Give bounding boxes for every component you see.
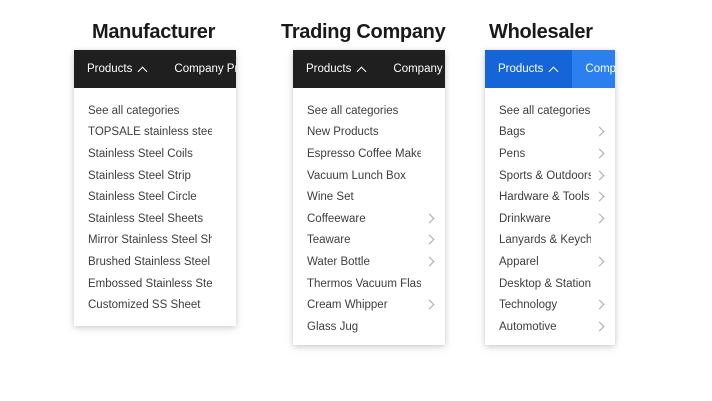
menu-item[interactable]: Vacuum Lunch Box: [293, 165, 445, 187]
menu-item-label: Water Bottle: [307, 256, 370, 268]
menu-item[interactable]: See all categories: [293, 100, 445, 122]
menu-item[interactable]: Sports & Outdoors: [485, 165, 615, 187]
chevron-right-icon: [427, 236, 435, 244]
menu-item-label: Lanyards & Keychains: [499, 234, 591, 246]
panel-header-manufacturer: Products Company Profile: [74, 50, 236, 88]
chevron-right-icon: [597, 172, 605, 180]
menu-item[interactable]: Stainless Steel Coils: [74, 143, 236, 165]
menu-item[interactable]: Stainless Steel Circle: [74, 186, 236, 208]
chevron-right-icon: [597, 107, 605, 115]
menu-item[interactable]: Embossed Stainless Steel ...: [74, 273, 236, 295]
category-menu-wholesaler: See all categories Bags Pens Sports & Ou…: [485, 88, 615, 345]
chevron-right-icon: [218, 236, 226, 244]
menu-item[interactable]: Coffeeware: [293, 208, 445, 230]
chevron-right-icon: [597, 301, 605, 309]
tab-company[interactable]: Compan: [572, 50, 615, 88]
chevron-right-icon: [218, 107, 226, 115]
tab-company-label: Company: [393, 63, 442, 75]
chevron-right-icon: [427, 128, 435, 136]
chevron-up-icon: [139, 66, 148, 75]
chevron-right-icon: [427, 107, 435, 115]
chevron-right-icon: [218, 215, 226, 223]
tab-company-profile-label: Company Profile: [174, 63, 236, 75]
menu-item-label: See all categories: [307, 105, 398, 117]
menu-item-label: New Products: [307, 126, 379, 138]
menu-item-label: Thermos Vacuum Flask: [307, 278, 421, 290]
menu-item[interactable]: Thermos Vacuum Flask: [293, 273, 445, 295]
chevron-right-icon: [427, 172, 435, 180]
menu-item[interactable]: Automotive: [485, 316, 615, 338]
chevron-right-icon: [427, 193, 435, 201]
menu-item-label: See all categories: [88, 105, 179, 117]
chevron-right-icon: [597, 128, 605, 136]
chevron-up-icon: [550, 66, 559, 75]
menu-item-label: Technology: [499, 299, 557, 311]
chevron-right-icon: [597, 215, 605, 223]
menu-item-label: Embossed Stainless Steel ...: [88, 278, 212, 290]
menu-item[interactable]: Mirror Stainless Steel Sheet: [74, 230, 236, 252]
menu-item[interactable]: Glass Jug: [293, 316, 445, 338]
menu-item-label: Hardware & Tools: [499, 191, 590, 203]
menu-item-label: Apparel: [499, 256, 539, 268]
menu-item-label: Stainless Steel Strip: [88, 170, 191, 182]
chevron-right-icon: [218, 128, 226, 136]
chevron-right-icon: [427, 150, 435, 158]
menu-item-label: Wine Set: [307, 191, 354, 203]
menu-item[interactable]: Stainless Steel Strip: [74, 165, 236, 187]
menu-item[interactable]: Espresso Coffee Maker: [293, 143, 445, 165]
chevron-right-icon: [597, 193, 605, 201]
dropdown-panel-manufacturer: Products Company Profile See all categor…: [74, 50, 236, 326]
chevron-right-icon: [597, 280, 605, 288]
chevron-right-icon: [427, 301, 435, 309]
menu-item-label: Stainless Steel Sheets: [88, 213, 203, 225]
chevron-right-icon: [597, 236, 605, 244]
tab-products-label: Products: [87, 63, 132, 75]
menu-item[interactable]: Apparel: [485, 251, 615, 273]
panel-title-wholesaler: Wholesaler: [489, 22, 593, 42]
tab-company[interactable]: Company: [380, 50, 445, 88]
page-root: Manufacturer Products Company Profile Se…: [0, 0, 712, 401]
menu-item[interactable]: Desktop & Stationery: [485, 273, 615, 295]
category-menu-trading-company: See all categories New Products Espresso…: [293, 88, 445, 345]
menu-item-label: Espresso Coffee Maker: [307, 148, 421, 160]
chevron-right-icon: [597, 258, 605, 266]
category-menu-manufacturer: See all categories TOPSALE stainless ste…: [74, 88, 236, 326]
menu-item[interactable]: Bags: [485, 122, 615, 144]
menu-item-label: Customized SS Sheet: [88, 299, 201, 311]
panel-header-wholesaler: Products Compan: [485, 50, 615, 88]
menu-item-label: Coffeeware: [307, 213, 366, 225]
menu-item[interactable]: Cream Whipper: [293, 294, 445, 316]
panel-header-trading-company: Products Company: [293, 50, 445, 88]
chevron-right-icon: [218, 280, 226, 288]
menu-item[interactable]: Wine Set: [293, 186, 445, 208]
menu-item[interactable]: Hardware & Tools: [485, 186, 615, 208]
dropdown-panel-trading-company: Products Company See all categories New …: [293, 50, 445, 345]
menu-item-label: See all categories: [499, 105, 590, 117]
menu-item-label: Vacuum Lunch Box: [307, 170, 406, 182]
chevron-right-icon: [427, 258, 435, 266]
menu-item-label: TOPSALE stainless steel: [88, 126, 212, 138]
chevron-right-icon: [427, 323, 435, 331]
chevron-right-icon: [427, 215, 435, 223]
menu-item-label: Brushed Stainless Steel Sh...: [88, 256, 212, 268]
tab-products[interactable]: Products: [74, 50, 161, 88]
chevron-right-icon: [218, 301, 226, 309]
menu-item-label: Glass Jug: [307, 321, 358, 333]
menu-item[interactable]: Lanyards & Keychains: [485, 230, 615, 252]
menu-item-label: Bags: [499, 126, 525, 138]
tab-company-label: Compan: [585, 63, 615, 75]
menu-item[interactable]: Technology: [485, 294, 615, 316]
menu-item-label: Teaware: [307, 234, 350, 246]
menu-item[interactable]: Drinkware: [485, 208, 615, 230]
menu-item[interactable]: Pens: [485, 143, 615, 165]
menu-item[interactable]: Water Bottle: [293, 251, 445, 273]
menu-item[interactable]: Customized SS Sheet: [74, 294, 236, 316]
menu-item[interactable]: Brushed Stainless Steel Sh...: [74, 251, 236, 273]
menu-item[interactable]: TOPSALE stainless steel: [74, 122, 236, 144]
menu-item-label: Stainless Steel Coils: [88, 148, 193, 160]
dropdown-panel-wholesaler: Products Compan See all categories Bags …: [485, 50, 615, 345]
chevron-right-icon: [427, 280, 435, 288]
menu-item-label: Stainless Steel Circle: [88, 191, 197, 203]
tab-products[interactable]: Products: [485, 50, 572, 88]
chevron-right-icon: [218, 193, 226, 201]
chevron-right-icon: [218, 150, 226, 158]
menu-item-label: Drinkware: [499, 213, 551, 225]
menu-item-label: Pens: [499, 148, 525, 160]
menu-item-label: Sports & Outdoors: [499, 170, 591, 182]
menu-item[interactable]: See all categories: [485, 100, 615, 122]
tab-products[interactable]: Products: [293, 50, 380, 88]
menu-item[interactable]: See all categories: [74, 100, 236, 122]
menu-item-label: Automotive: [499, 321, 557, 333]
menu-item-label: Desktop & Stationery: [499, 278, 591, 290]
chevron-right-icon: [218, 258, 226, 266]
chevron-up-icon: [358, 66, 367, 75]
chevron-right-icon: [597, 150, 605, 158]
chevron-right-icon: [218, 172, 226, 180]
menu-item[interactable]: New Products: [293, 122, 445, 144]
menu-item[interactable]: Teaware: [293, 230, 445, 252]
tab-products-label: Products: [498, 63, 543, 75]
menu-item-label: Cream Whipper: [307, 299, 388, 311]
menu-item-label: Mirror Stainless Steel Sheet: [88, 234, 212, 246]
menu-item[interactable]: Stainless Steel Sheets: [74, 208, 236, 230]
tab-products-label: Products: [306, 63, 351, 75]
tab-company-profile[interactable]: Company Profile: [161, 50, 236, 88]
panel-title-manufacturer: Manufacturer: [92, 22, 215, 42]
chevron-right-icon: [597, 323, 605, 331]
panel-title-trading-company: Trading Company: [281, 22, 445, 42]
